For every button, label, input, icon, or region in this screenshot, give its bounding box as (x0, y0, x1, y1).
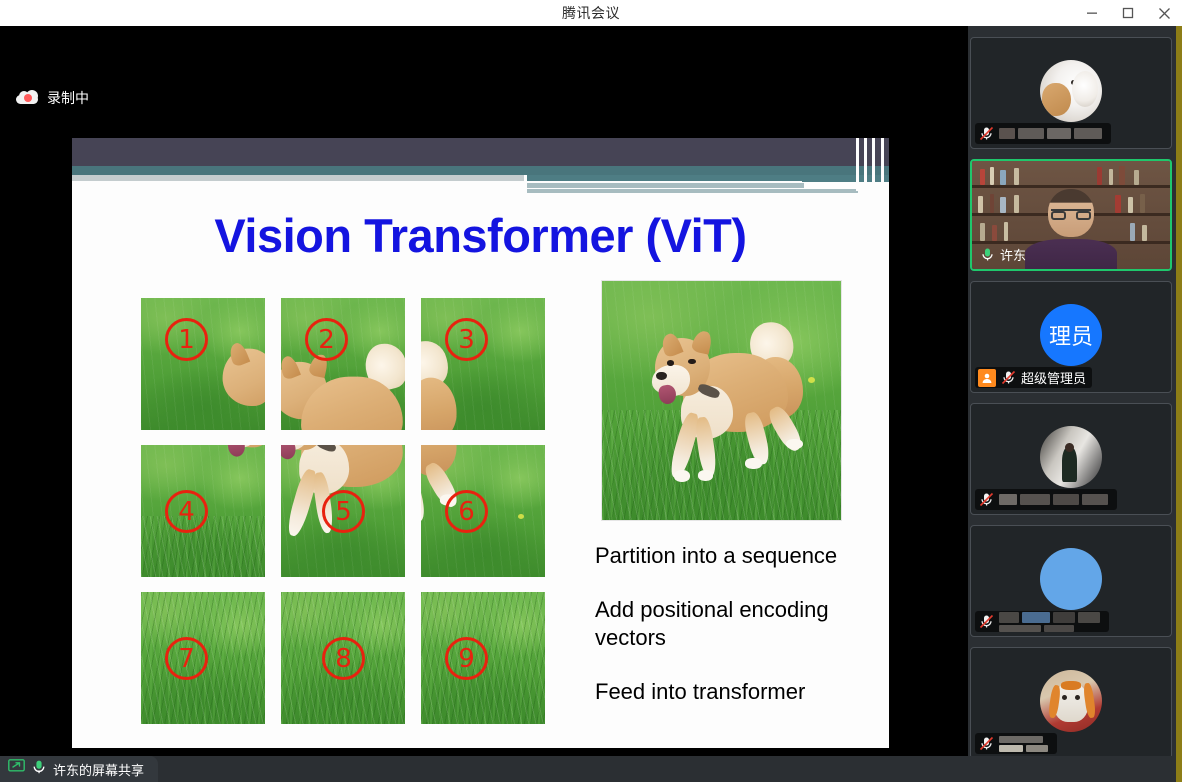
slide-header-decoration (72, 138, 889, 191)
participant-namebar (975, 489, 1117, 510)
participant-tile[interactable] (970, 647, 1172, 759)
window-title: 腾讯会议 (562, 3, 620, 23)
patch-number: 5 (322, 490, 365, 533)
image-patch: 9 (421, 592, 545, 724)
patch-number: 4 (165, 490, 208, 533)
close-icon (1158, 7, 1171, 20)
mic-on-icon (32, 759, 46, 780)
slide-title: Vision Transformer (ViT) (72, 208, 889, 263)
patch-number: 9 (445, 637, 488, 680)
participant-namebar: 超级管理员 (975, 367, 1092, 388)
avatar (1040, 426, 1102, 488)
host-badge-icon (978, 369, 996, 387)
shared-screen-area[interactable]: 录制中 Vision Transformer (ViT) (0, 26, 968, 756)
maximize-button[interactable] (1110, 0, 1146, 26)
patch-number: 7 (165, 637, 208, 680)
participant-tile[interactable] (970, 37, 1172, 149)
avatar (1040, 670, 1102, 732)
participant-namebar (975, 611, 1109, 632)
participant-name: 超级管理员 (1021, 368, 1086, 387)
mic-on-icon (979, 246, 996, 263)
slide-bullet-2: Add positional encoding vectors (595, 596, 885, 652)
window-edge-accent (1176, 26, 1182, 782)
mic-muted-icon (1000, 369, 1017, 386)
meeting-window: 腾讯会议 (0, 0, 1182, 782)
participant-namebar (975, 733, 1057, 754)
participant-name-redacted (999, 736, 1051, 752)
participant-tile[interactable] (970, 525, 1172, 637)
participant-tile[interactable]: 理员 (970, 281, 1172, 393)
patch-number: 8 (322, 637, 365, 680)
screen-share-status[interactable]: 许东的屏幕共享 (0, 756, 158, 782)
image-patch: 8 (281, 592, 405, 724)
window-edge-accent-top (1176, 0, 1182, 26)
source-image (601, 280, 842, 521)
mic-muted-icon (978, 491, 995, 508)
cloud-recording-icon (16, 90, 38, 106)
slide-bullet-1: Partition into a sequence (595, 542, 885, 570)
image-patch-grid: 1 2 (141, 298, 551, 722)
recording-indicator: 录制中 (16, 88, 89, 108)
mic-muted-icon (978, 735, 995, 752)
image-patch: 7 (141, 592, 265, 724)
maximize-icon (1122, 7, 1134, 19)
slide-bullet-3: Feed into transformer (595, 678, 885, 706)
slide-bullets: Partition into a sequence Add positional… (595, 542, 885, 707)
screen-share-icon (8, 759, 25, 779)
avatar (1040, 60, 1102, 122)
participant-name-redacted (999, 612, 1103, 632)
minimize-button[interactable] (1074, 0, 1110, 26)
image-patch: 4 (141, 445, 265, 577)
screen-share-label: 许东的屏幕共享 (53, 760, 144, 779)
participant-namebar (975, 123, 1111, 144)
patch-number: 3 (445, 318, 488, 361)
mic-muted-icon (978, 125, 995, 142)
avatar: 理员 (1040, 304, 1102, 366)
avatar-initials: 理员 (1049, 319, 1093, 351)
meeting-body: 录制中 Vision Transformer (ViT) (0, 26, 1182, 782)
patch-number: 6 (445, 490, 488, 533)
participant-name: 许东 (1000, 245, 1026, 264)
image-patch: 5 (281, 445, 405, 577)
avatar (1040, 548, 1102, 610)
patch-number: 1 (165, 318, 208, 361)
minimize-icon (1086, 7, 1098, 19)
image-patch: 1 (141, 298, 265, 430)
image-patch: 3 (421, 298, 545, 430)
image-patch: 2 (281, 298, 405, 430)
recording-label: 录制中 (47, 88, 89, 108)
participant-tile[interactable] (970, 403, 1172, 515)
title-bar: 腾讯会议 (0, 0, 1182, 26)
participant-rail[interactable]: 许东 理员 (968, 26, 1176, 782)
participant-name-redacted (999, 128, 1105, 139)
image-patch: 6 (421, 445, 545, 577)
participant-name-redacted (999, 494, 1111, 505)
participant-namebar: 许东 (976, 244, 1032, 265)
mic-muted-icon (978, 613, 995, 630)
status-bar: 许东的屏幕共享 (0, 756, 1182, 782)
patch-number: 2 (305, 318, 348, 361)
participant-tile-active-speaker[interactable]: 许东 (970, 159, 1172, 271)
window-controls (1074, 0, 1182, 26)
presentation-slide: Vision Transformer (ViT) 1 (72, 138, 889, 748)
